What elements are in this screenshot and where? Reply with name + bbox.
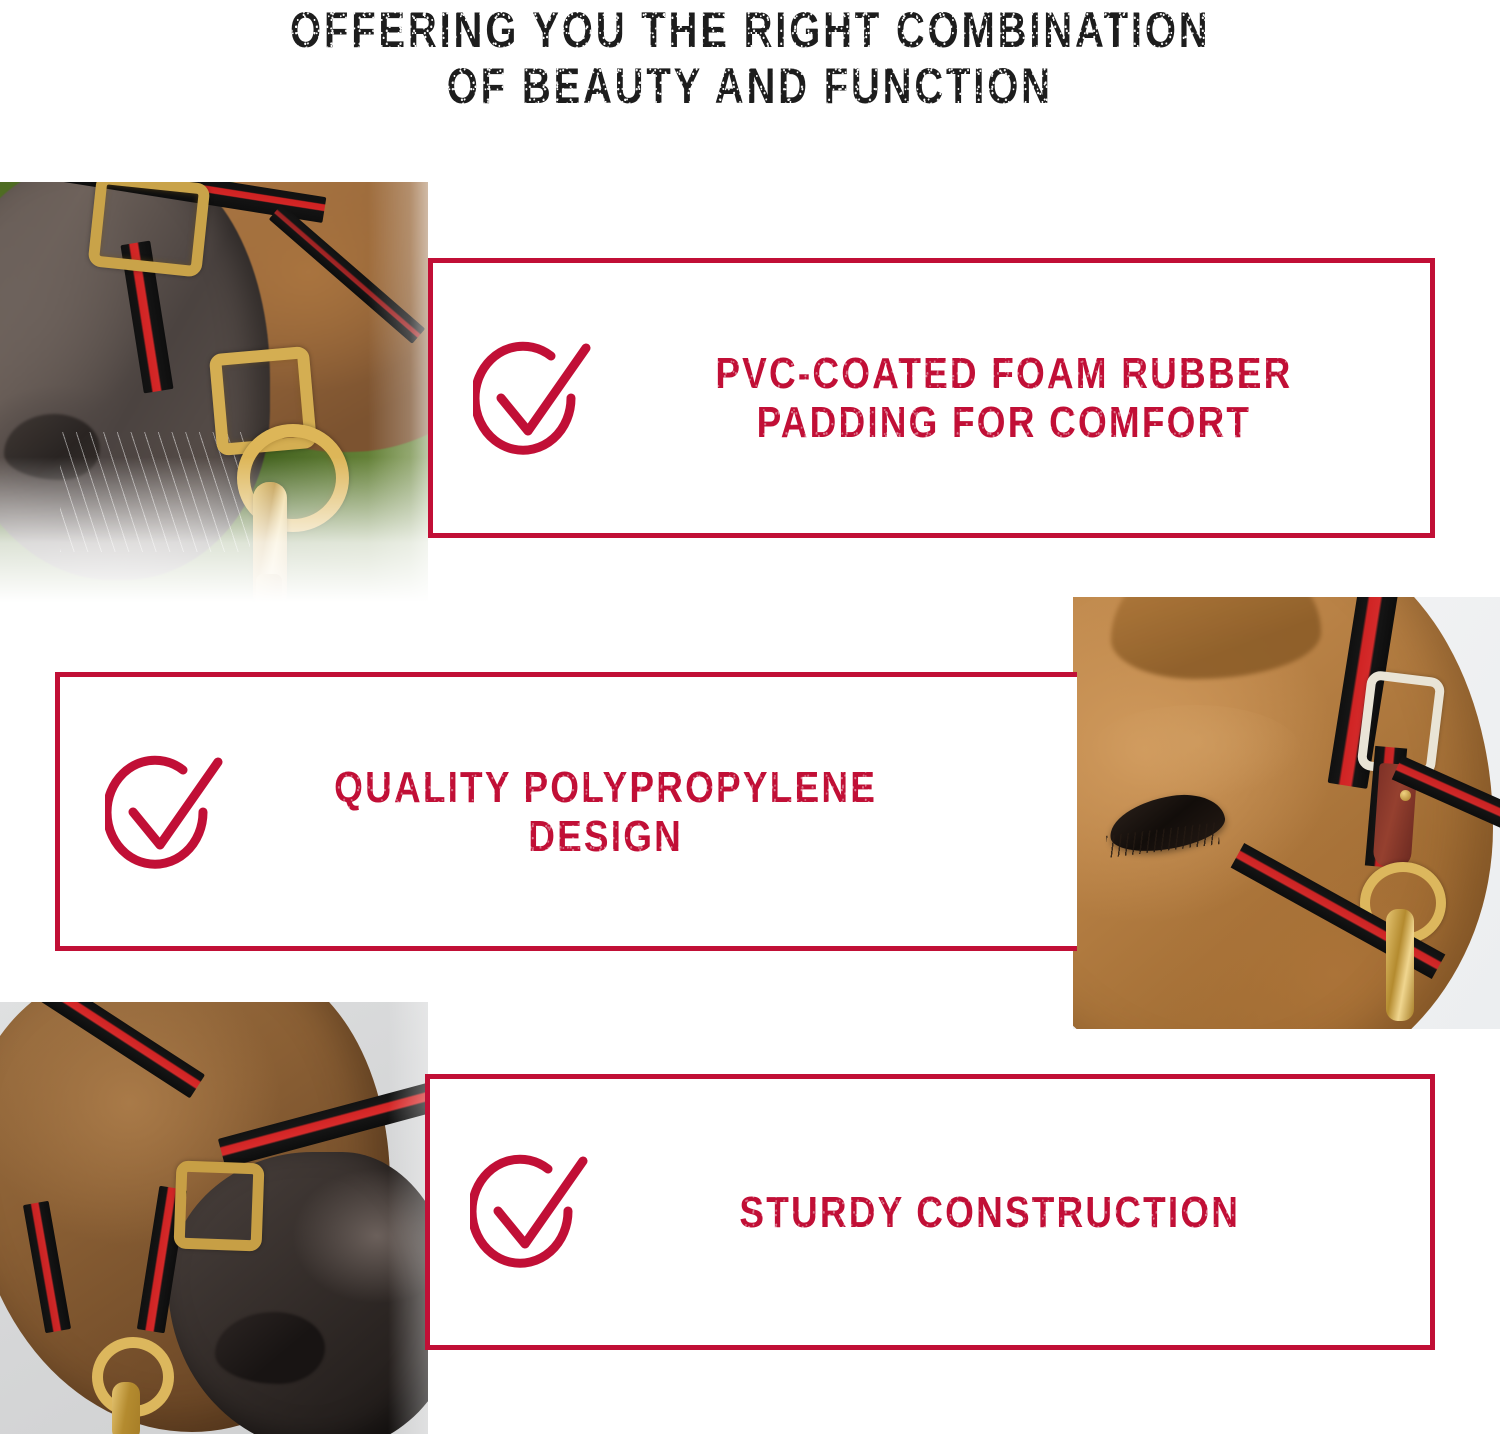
feature-box-sturdy-construction: STURDY CONSTRUCTION bbox=[425, 1074, 1435, 1350]
page-title: OFFERING YOU THE RIGHT COMBINATION OFFER… bbox=[0, 0, 1500, 130]
product-photo-horse-muzzle-profile-halter bbox=[0, 1002, 428, 1434]
page-title-line-2-text: OF BEAUTY AND FUNCTION bbox=[447, 58, 1053, 114]
feature-1-label: PVC-COATED FOAM RUBBER PADDING FOR COMFO… bbox=[669, 349, 1364, 447]
brass-square-ring bbox=[173, 1160, 264, 1251]
page-title-line-1: OFFERING YOU THE RIGHT COMBINATION OFFER… bbox=[290, 2, 1210, 58]
page-title-line-2: OF BEAUTY AND FUNCTION OF BEAUTY AND FUN… bbox=[447, 58, 1053, 114]
photo-3-content bbox=[0, 1002, 428, 1434]
brass-snap-hook bbox=[1386, 909, 1414, 1021]
photo-1-bottom-fade bbox=[0, 457, 428, 622]
brass-rivet bbox=[1400, 790, 1411, 801]
product-photo-horse-head-eye-halter bbox=[1073, 597, 1500, 1029]
photo-1-content bbox=[0, 182, 428, 622]
feature-box-quality-polypropylene-design: QUALITY POLYPROPYLENE DESIGN bbox=[55, 672, 1077, 951]
photo-2-content bbox=[1073, 597, 1500, 1029]
feature-2-content: QUALITY POLYPROPYLENE DESIGN bbox=[60, 677, 1077, 946]
feature-3-label: STURDY CONSTRUCTION bbox=[666, 1188, 1363, 1237]
feature-3-content: STURDY CONSTRUCTION bbox=[430, 1079, 1430, 1345]
horse-brow bbox=[1091, 705, 1301, 797]
check-circle-icon bbox=[473, 336, 603, 464]
photo-3-right-fade bbox=[388, 1002, 428, 1434]
feature-box-pvc-coated-foam-rubber-padding: PVC-COATED FOAM RUBBER PADDING FOR COMFO… bbox=[428, 258, 1435, 538]
check-circle-icon bbox=[105, 750, 235, 878]
product-photo-horse-muzzle-halter-grass bbox=[0, 182, 428, 622]
feature-2-label: QUALITY POLYPROPYLENE DESIGN bbox=[302, 763, 1009, 861]
feature-1-content: PVC-COATED FOAM RUBBER PADDING FOR COMFO… bbox=[433, 263, 1430, 533]
check-circle-icon bbox=[470, 1149, 600, 1277]
page-title-line-1-text: OFFERING YOU THE RIGHT COMBINATION bbox=[290, 2, 1210, 58]
brass-snap-hook bbox=[112, 1382, 140, 1434]
brass-square-ring bbox=[87, 182, 210, 278]
